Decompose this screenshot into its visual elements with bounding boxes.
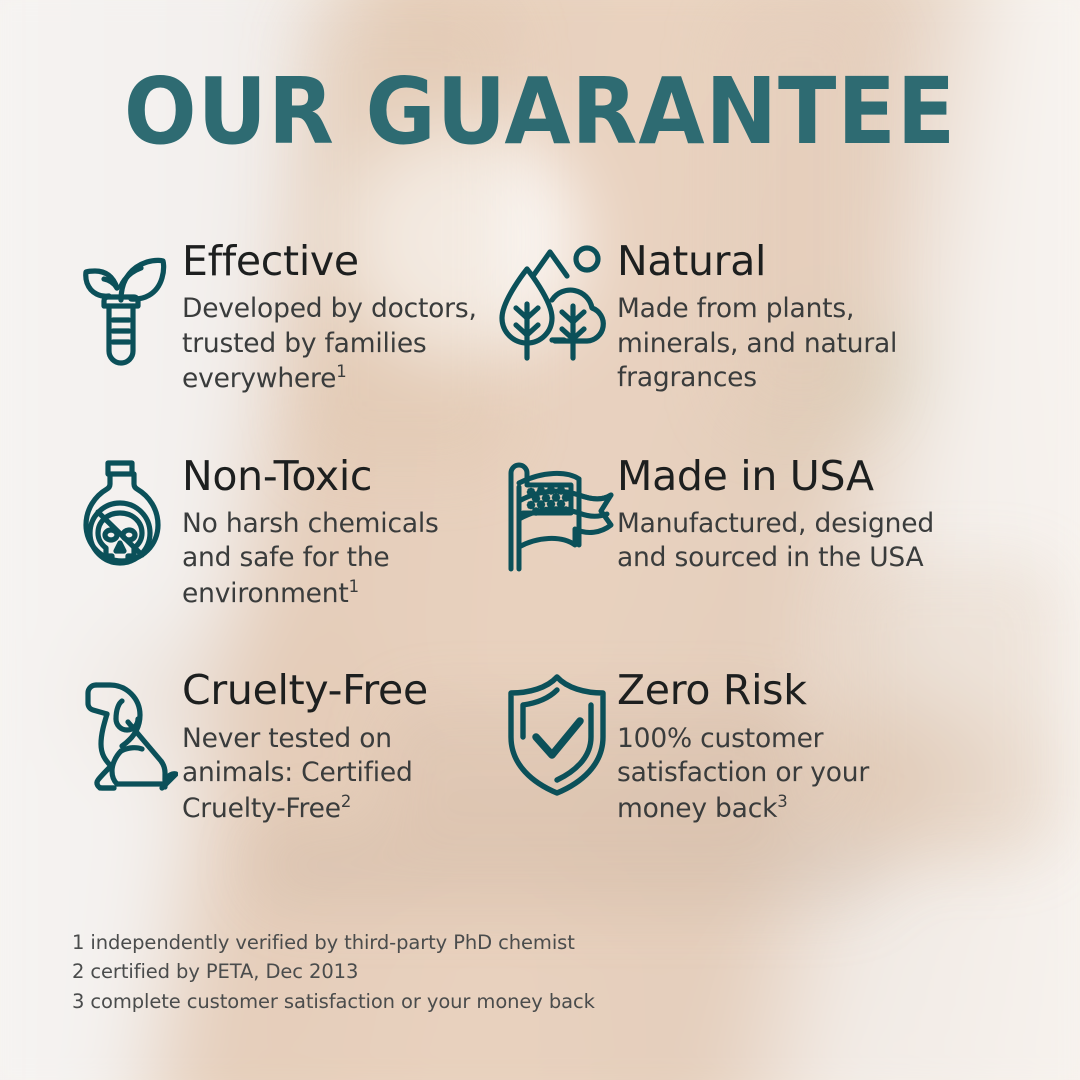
feature-zero-risk: Zero Risk 100% customer satisfaction or … xyxy=(485,667,995,826)
desc-line-3: environment xyxy=(182,578,349,609)
desc-line-2: animals: Certified xyxy=(182,757,413,788)
desc-line-2: trusted by families xyxy=(182,328,427,359)
feature-description: Manufactured, designed and sourced in th… xyxy=(617,507,934,576)
desc-line-3: money back xyxy=(617,792,777,823)
features-row: Non-Toxic No harsh chemicals and safe fo… xyxy=(0,453,1080,612)
footnote-2: 2 certified by PETA, Dec 2013 xyxy=(72,957,595,986)
feature-text: Zero Risk 100% customer satisfaction or … xyxy=(617,667,869,826)
feature-text: Cruelty-Free Never tested on animals: Ce… xyxy=(182,667,428,826)
page-title: OUR GUARANTEE xyxy=(38,58,1042,165)
features-row: Cruelty-Free Never tested on animals: Ce… xyxy=(0,667,1080,826)
feature-description: No harsh chemicals and safe for the envi… xyxy=(182,507,439,611)
desc-line-1: Never tested on xyxy=(182,723,392,754)
guarantee-infographic: OUR GUARANTEE xyxy=(0,0,1080,1080)
footnote-ref: 3 xyxy=(777,792,787,811)
feature-text: Effective Developed by doctors, trusted … xyxy=(182,238,477,397)
sitting-dog-icon xyxy=(62,667,182,797)
feature-title: Non-Toxic xyxy=(182,455,439,498)
shield-check-icon xyxy=(497,667,617,797)
desc-line-3: everywhere xyxy=(182,363,336,394)
footnote-ref: 1 xyxy=(349,577,359,596)
features-grid: Effective Developed by doctors, trusted … xyxy=(0,238,1080,826)
desc-line-2: and safe for the xyxy=(182,542,390,573)
features-row: Effective Developed by doctors, trusted … xyxy=(0,238,1080,397)
footnotes: 1 independently verified by third-party … xyxy=(72,928,595,1016)
feature-title: Zero Risk xyxy=(617,669,869,712)
feature-made-in-usa: Made in USA Manufactured, designed and s… xyxy=(485,453,995,612)
feature-description: Developed by doctors, trusted by familie… xyxy=(182,292,477,396)
desc-line-2: and sourced in the USA xyxy=(617,542,923,573)
desc-line-3: fragrances xyxy=(617,362,757,393)
poison-bottle-skull-icon xyxy=(62,453,182,583)
feature-natural: Natural Made from plants, minerals, and … xyxy=(485,238,995,397)
footnote-3: 3 complete customer satisfaction or your… xyxy=(72,987,595,1016)
footnote-1: 1 independently verified by third-party … xyxy=(72,928,595,957)
desc-line-1: Made from plants, xyxy=(617,293,854,324)
desc-line-2: minerals, and natural xyxy=(617,328,897,359)
feature-effective: Effective Developed by doctors, trusted … xyxy=(0,238,485,397)
desc-line-1: No harsh chemicals xyxy=(182,508,439,539)
feature-cruelty-free: Cruelty-Free Never tested on animals: Ce… xyxy=(0,667,485,826)
feature-title: Cruelty-Free xyxy=(182,669,428,712)
usa-flag-icon xyxy=(497,453,617,583)
feature-title: Effective xyxy=(182,240,477,283)
feature-text: Non-Toxic No harsh chemicals and safe fo… xyxy=(182,453,439,612)
feature-description: Made from plants, minerals, and natural … xyxy=(617,292,897,395)
footnote-ref: 2 xyxy=(341,792,351,811)
feature-text: Natural Made from plants, minerals, and … xyxy=(617,238,897,396)
desc-line-3: Cruelty-Free xyxy=(182,792,341,823)
desc-line-1: Manufactured, designed xyxy=(617,508,934,539)
test-tube-leaf-icon xyxy=(62,238,182,368)
feature-title: Natural xyxy=(617,240,897,283)
desc-line-1: Developed by doctors, xyxy=(182,293,477,324)
desc-line-2: satisfaction or your xyxy=(617,757,869,788)
footnote-ref: 1 xyxy=(336,362,346,381)
desc-line-1: 100% customer xyxy=(617,723,823,754)
feature-text: Made in USA Manufactured, designed and s… xyxy=(617,453,934,576)
feature-description: Never tested on animals: Certified Cruel… xyxy=(182,722,428,826)
feature-title: Made in USA xyxy=(617,455,934,498)
feature-non-toxic: Non-Toxic No harsh chemicals and safe fo… xyxy=(0,453,485,612)
feature-description: 100% customer satisfaction or your money… xyxy=(617,722,869,826)
trees-mountain-sun-icon xyxy=(497,238,617,368)
